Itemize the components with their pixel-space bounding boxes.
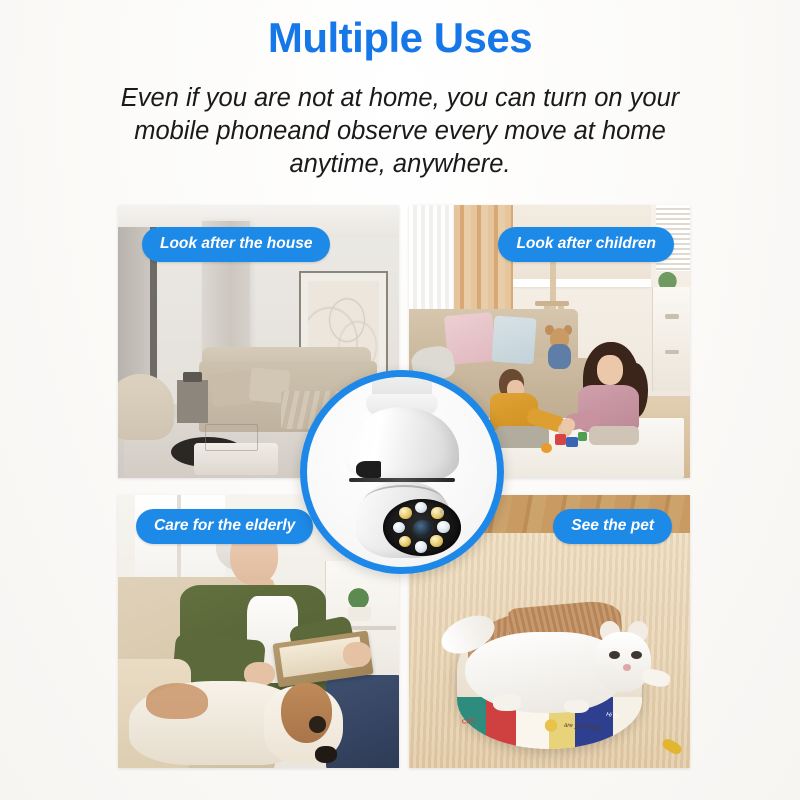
page-title: Multiple Uses [0,14,800,62]
badge-look-after-children: Look after children [498,227,674,262]
led-4-icon [430,535,443,546]
led-8-icon [399,507,412,518]
led-7-icon [393,522,406,533]
bulb-security-camera-image [307,377,497,567]
led-3-icon [437,521,450,532]
product-callout-circle [300,370,504,574]
product-marketing-page: Multiple Uses Even if you are not at hom… [0,0,800,800]
led-5-icon [415,541,428,552]
badge-look-after-the-house: Look after the house [142,227,330,262]
page-subtitle: Even if you are not at home, you can tur… [96,82,704,181]
camera-lens-icon [412,519,433,538]
badge-care-for-the-elderly: Care for the elderly [136,509,313,544]
badge-see-the-pet: See the pet [553,509,672,544]
microphone-icon [440,510,444,514]
